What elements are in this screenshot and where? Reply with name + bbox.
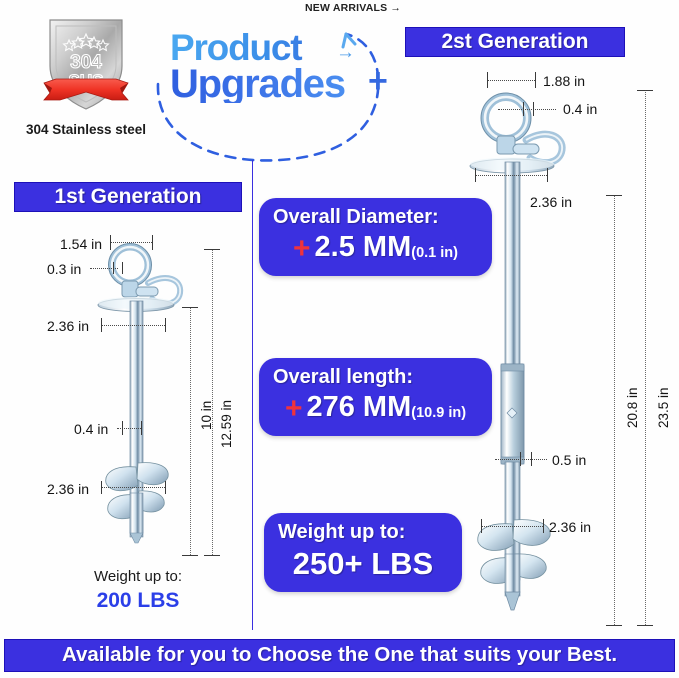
gen1-dim-overall-length: 12.59 in	[219, 400, 234, 448]
gen2-tick-len-bottom	[606, 625, 622, 626]
gen1-dim-plate-diameter: 2.36 in	[47, 318, 89, 334]
gen2-rule-shaft	[495, 459, 547, 460]
product-upgrades-logo: Product Upgrades → +	[150, 14, 400, 174]
gen2-tick-auger-right	[543, 519, 544, 533]
gen2-tick-thick-left	[523, 102, 524, 116]
gen1-tick-shaft-left	[122, 421, 123, 435]
callout-weight-value-row: 250+ LBS	[278, 546, 448, 582]
gen2-tick-auger-left	[481, 519, 482, 533]
gen2-tick-plate-right	[547, 168, 548, 182]
infographic-root: 304 SUS 304 Stainless steel Product Upgr…	[0, 0, 679, 678]
plus-icon: +	[285, 392, 303, 425]
gen2-anchor-image	[466, 92, 578, 622]
callout-diameter-sub: (0.1 in)	[411, 245, 458, 261]
gen1-dim-ring-thickness: 0.3 in	[47, 261, 81, 277]
gen2-dim-ring-thickness: 0.4 in	[563, 101, 597, 117]
gen2-dim-overall-length: 23.5 in	[656, 387, 671, 428]
gen2-dim-shaft-diameter: 0.5 in	[552, 452, 586, 468]
gen2-rule-overall-length	[645, 90, 646, 625]
logo-line-2: Upgrades	[170, 65, 345, 103]
gen2-dim-plate-diameter: 2.36 in	[530, 194, 572, 210]
stainless-steel-badge: 304 SUS 304 Stainless steel	[6, 8, 166, 137]
shield-icon: 304 SUS	[38, 10, 134, 118]
gen1-rule-shaft	[117, 428, 141, 429]
logo-line-1: Product	[170, 30, 345, 65]
callout-diameter-value-row: +2.5 MM(0.1 in)	[273, 231, 478, 266]
gen1-weight-value: 200 LBS	[58, 589, 218, 613]
gen1-tick-ring-right	[152, 235, 153, 250]
gen2-tick-ring-right	[535, 72, 536, 88]
callout-weight-title: Weight up to:	[278, 521, 448, 544]
new-arrivals-label: NEW ARRIVALS →	[305, 2, 401, 14]
gen1-weight-label: Weight up to:	[58, 568, 218, 585]
gen1-anchor-image	[92, 243, 204, 553]
gen1-rule-auger	[101, 487, 165, 488]
callout-length-title: Overall length:	[273, 366, 478, 389]
gen2-tick-shaft-left	[520, 452, 521, 466]
gen2-tick-len-top	[606, 195, 622, 196]
callout-overall-length: Overall length: +276 MM(10.9 in)	[259, 358, 492, 436]
gen1-rule-ring-width	[110, 242, 152, 243]
gen1-rule-shaft-length	[190, 307, 191, 555]
gen2-tick-plate-left	[475, 168, 476, 182]
gen2-dim-shaft-length: 20.8 in	[625, 387, 640, 428]
logo-plus-sign: +	[368, 62, 388, 101]
gen2-rule-auger	[481, 526, 543, 527]
callout-length-value-row: +276 MM(10.9 in)	[273, 391, 478, 426]
gen1-tick-thick-left	[113, 262, 114, 274]
gen1-header: 1st Generation	[14, 182, 242, 212]
callout-weight: Weight up to: 250+ LBS	[264, 513, 462, 592]
gen2-rule-ring-thickness	[498, 109, 556, 110]
callout-length-value: 276 MM	[306, 391, 411, 423]
gen2-dim-ring-width: 1.88 in	[543, 73, 585, 89]
gen1-tick-shaft-right	[141, 421, 142, 435]
gen1-tick-plate-left	[101, 318, 102, 332]
gen2-rule-plate	[475, 175, 547, 176]
gen2-tick-overall-bottom	[637, 625, 653, 626]
callout-weight-value: 250+ LBS	[293, 546, 433, 581]
gen1-rule-plate	[101, 325, 165, 326]
gen1-dim-shaft-diameter: 0.4 in	[74, 421, 108, 437]
gen2-tick-ring-left	[487, 72, 488, 88]
gen2-tick-overall-top	[637, 90, 653, 91]
gen1-tick-len-top	[182, 307, 198, 308]
callout-diameter-value: 2.5 MM	[315, 231, 412, 263]
arrow-right-icon: →	[336, 42, 355, 64]
gen1-tick-auger-left	[101, 481, 102, 494]
gen1-tick-ring-left	[110, 235, 111, 250]
gen1-tick-overall-bottom	[204, 555, 220, 556]
gen2-header: 2st Generation	[405, 27, 625, 57]
callout-overall-diameter: Overall Diameter: +2.5 MM(0.1 in)	[259, 198, 492, 276]
bottom-banner: Available for you to Choose the One that…	[4, 639, 675, 672]
gen1-dim-ring-width: 1.54 in	[60, 236, 102, 252]
callout-diameter-title: Overall Diameter:	[273, 206, 478, 229]
gen1-tick-auger-right	[165, 481, 166, 494]
center-divider	[252, 160, 253, 630]
gen1-tick-plate-right	[165, 318, 166, 332]
gen2-rule-ring-width	[487, 80, 535, 81]
logo-text: Product Upgrades	[170, 30, 345, 103]
gen1-tick-len-bottom	[182, 555, 198, 556]
gen1-tick-thick-right	[122, 262, 123, 274]
gen2-dim-auger-diameter: 2.36 in	[549, 519, 591, 535]
badge-caption: 304 Stainless steel	[6, 122, 166, 137]
gen2-rule-shaft-length	[614, 195, 615, 625]
gen1-rule-overall-length	[212, 249, 213, 555]
gen1-dim-auger-diameter: 2.36 in	[47, 481, 89, 497]
callout-length-sub: (10.9 in)	[411, 405, 466, 421]
plus-icon: +	[293, 232, 311, 265]
gen1-tick-overall-top	[204, 249, 220, 250]
gen2-tick-shaft-right	[531, 452, 532, 466]
shield-304-text: 304	[70, 52, 102, 73]
gen2-tick-thick-right	[533, 102, 534, 116]
